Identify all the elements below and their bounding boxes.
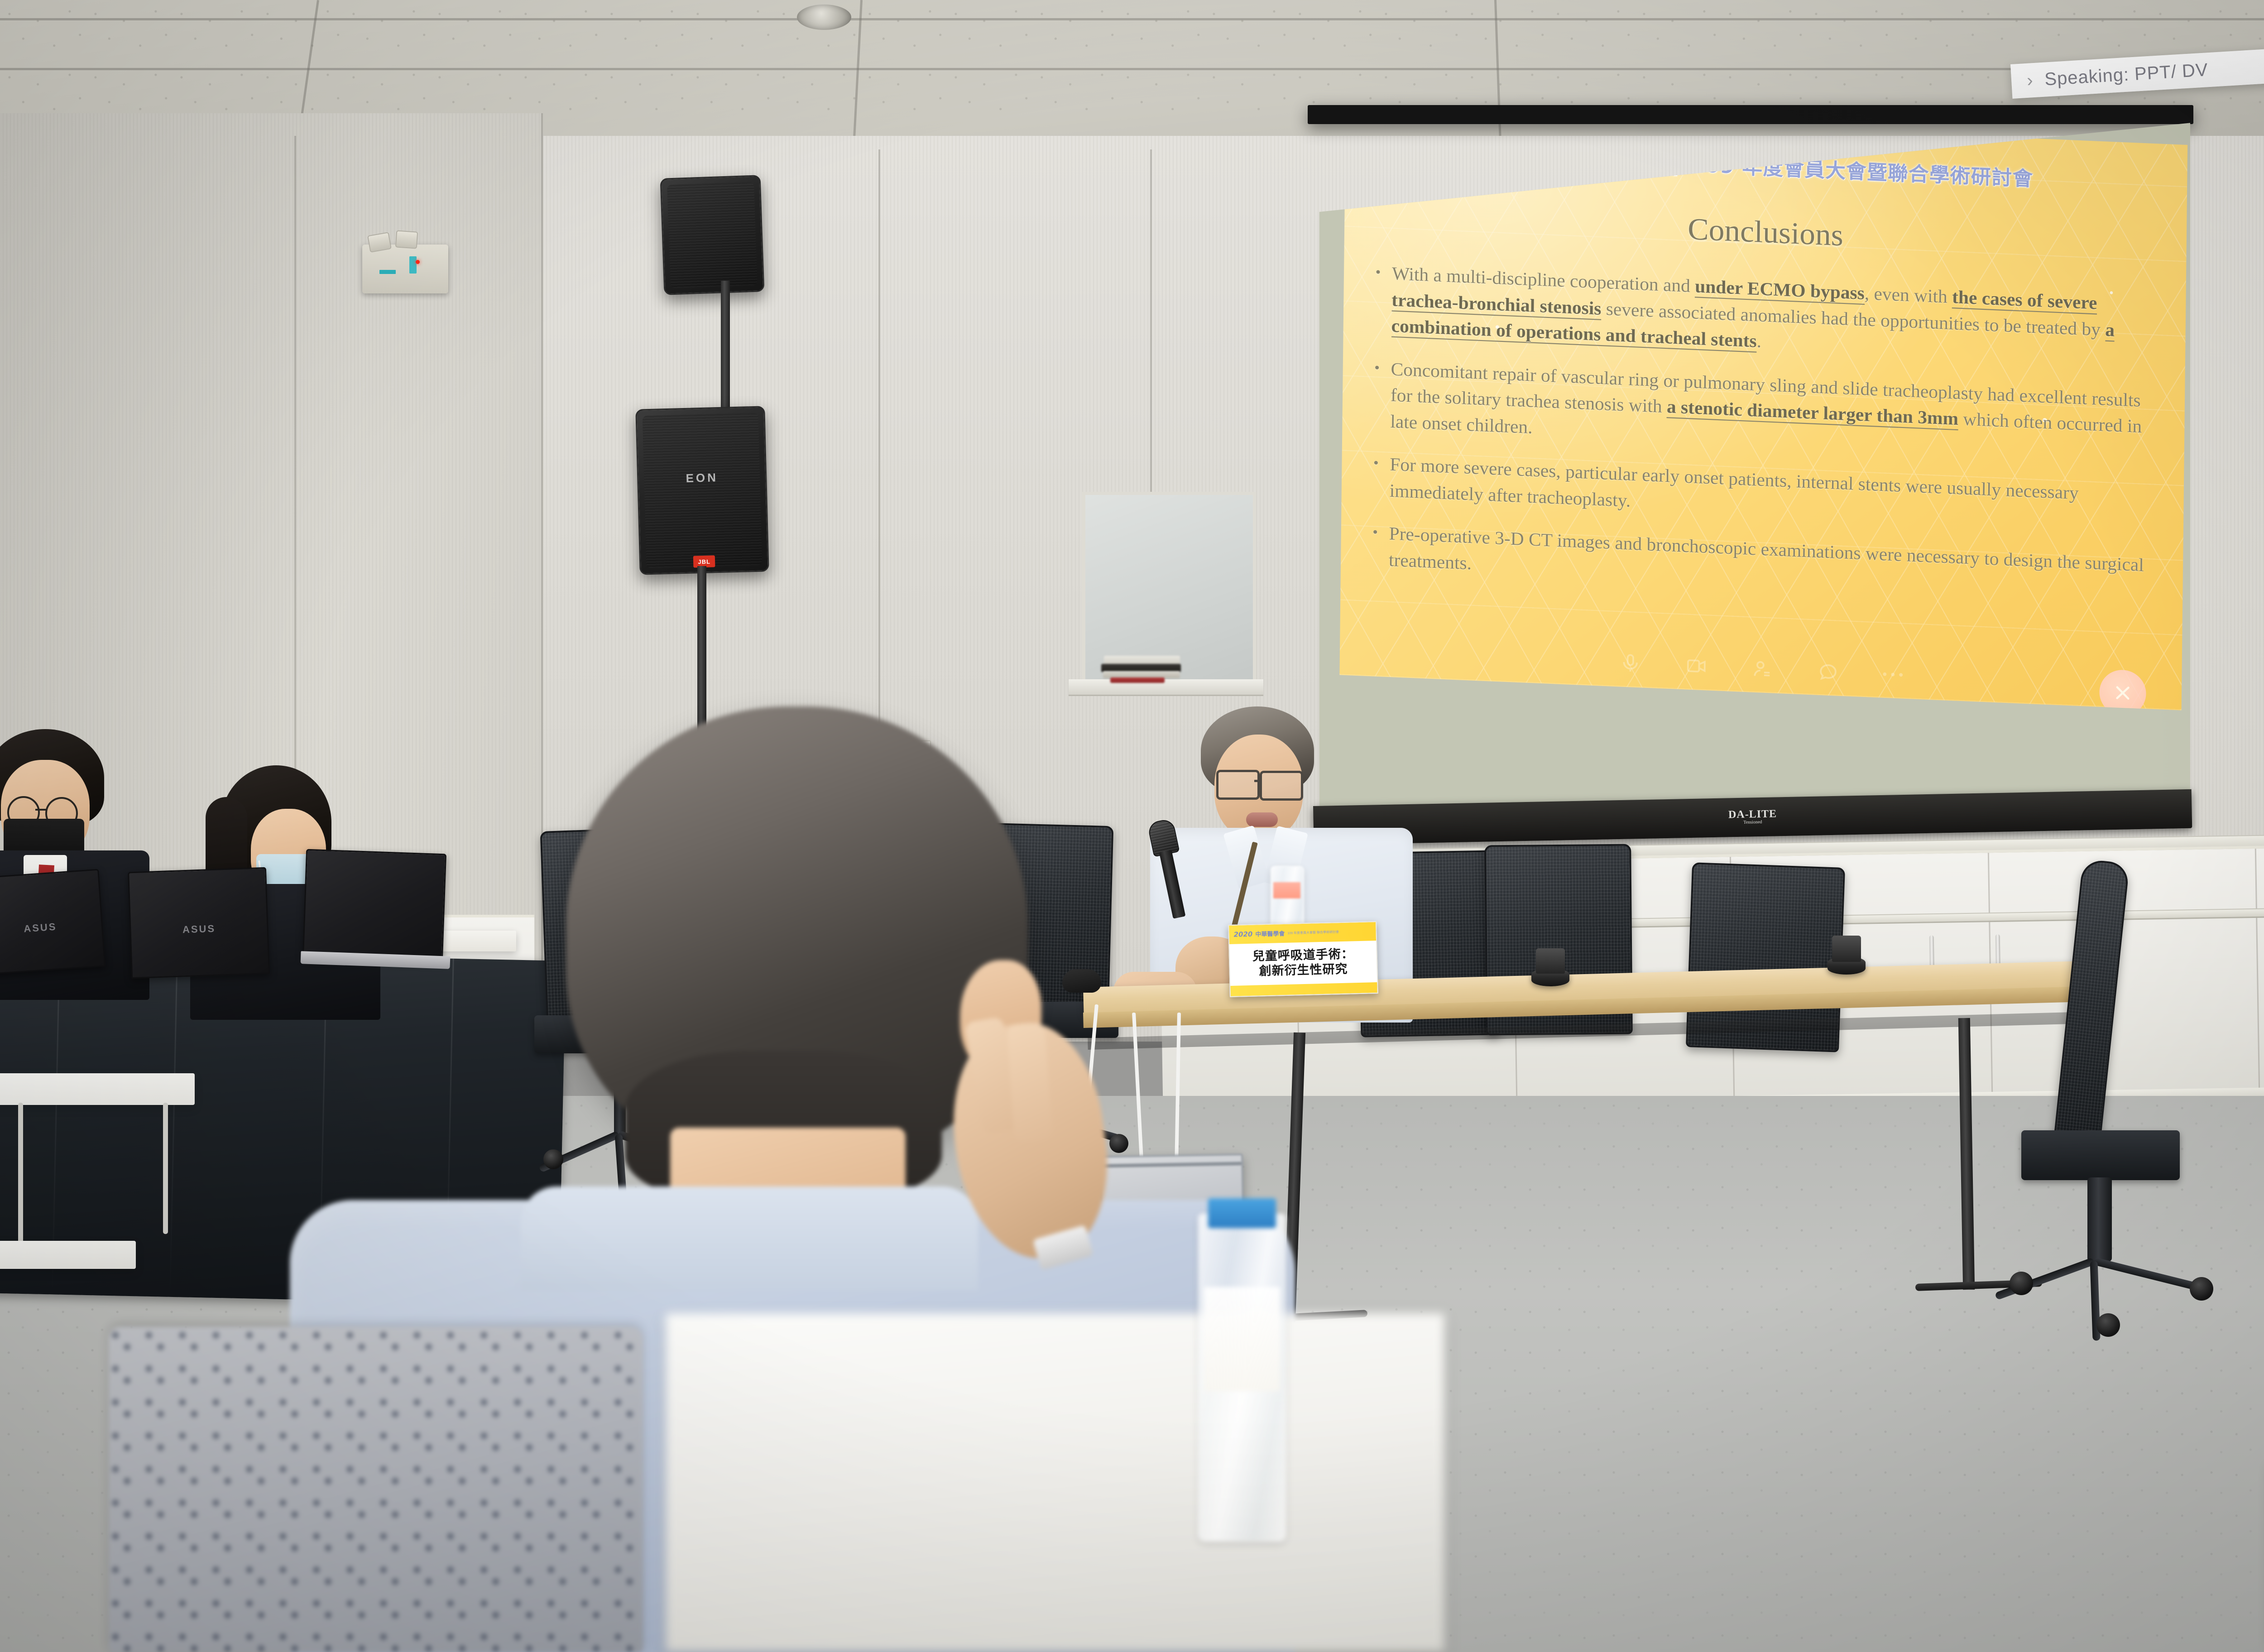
wall-seam xyxy=(294,136,296,770)
emergency-light-panel xyxy=(409,256,417,274)
bullet-marker: • xyxy=(1374,356,1380,435)
table-leg xyxy=(18,1103,23,1243)
chair-base-arm xyxy=(2093,1257,2205,1292)
chair-caster xyxy=(2190,1277,2213,1301)
chair-base-arm xyxy=(1995,1258,2095,1301)
table-leg xyxy=(163,1103,168,1234)
floor-speaker-eon: EON JBL xyxy=(635,406,769,575)
ceiling-grid-line xyxy=(0,18,2264,20)
slide-bullet: • Pre-operative 3-D CT images and bronch… xyxy=(1372,520,2154,605)
more-options-icon[interactable] xyxy=(1883,672,1903,677)
slide-bullet: • For more severe cases, particular earl… xyxy=(1373,451,2155,536)
chat-icon[interactable] xyxy=(1817,660,1839,683)
ceiling-vent xyxy=(797,5,851,30)
bullet-marker: • xyxy=(1372,520,1378,573)
white-side-table xyxy=(0,1241,136,1269)
finger xyxy=(1007,1022,1053,1142)
white-side-table xyxy=(0,1073,195,1105)
dalite-brand-logo: DA-LITE Tensioned xyxy=(1728,809,1777,826)
bullet-text: For more severe cases, particular early … xyxy=(1389,452,2155,537)
microphone-icon[interactable] xyxy=(1619,652,1641,674)
bullet-text: Concomitant repair of vascular ring or p… xyxy=(1390,356,2157,467)
bottle-label xyxy=(1204,1287,1280,1391)
audience-desk xyxy=(666,1313,1444,1652)
laptop-left[interactable]: ASUS xyxy=(0,869,106,975)
emergency-light-led xyxy=(416,260,420,264)
shirt-collar xyxy=(521,1186,978,1291)
book-stack xyxy=(1110,677,1165,683)
chair-caster xyxy=(2096,1313,2120,1337)
task-chair-profile[interactable] xyxy=(2001,860,2237,1340)
laptop-brand-asus: ASUS xyxy=(23,921,57,935)
bullet-marker: • xyxy=(1375,260,1381,339)
speaker-mount-pole xyxy=(721,281,730,417)
bottle-cap xyxy=(1208,1198,1276,1228)
chair-seat xyxy=(2021,1130,2180,1180)
emergency-lamp-left xyxy=(367,232,392,253)
emergency-light-legend xyxy=(379,270,396,274)
drape-fold xyxy=(169,953,178,1297)
slide-bullet: • Concomitant repair of vascular ring or… xyxy=(1374,356,2157,467)
cabinet-seam xyxy=(2255,849,2260,1102)
eyeglasses-bridge xyxy=(35,809,47,811)
desk-microphone-body[interactable] xyxy=(1832,936,1861,962)
wall-speaker-upper xyxy=(660,175,765,295)
chevron-right-icon[interactable]: › xyxy=(2026,71,2034,90)
ceiling-grid-line xyxy=(0,68,2264,70)
laptop-center[interactable]: ASUS xyxy=(128,867,270,979)
projection-screen: 2020 中華醫學會 109 年度會員大會暨聯合學術研討會 Conclusion… xyxy=(1314,119,2190,825)
slide-canvas: 2020 中華醫學會 109 年度會員大會暨聯合學術研討會 Conclusion… xyxy=(1339,119,2187,711)
participants-icon[interactable] xyxy=(1751,658,1773,680)
speaker-grille xyxy=(643,413,763,568)
desk-microphone-body[interactable] xyxy=(1536,948,1565,974)
book-stack xyxy=(1104,656,1180,665)
slide-body: • With a multi-discipline cooperation an… xyxy=(1372,260,2158,623)
projection-screen-housing xyxy=(1308,105,2193,124)
camera-icon[interactable] xyxy=(1685,654,1708,677)
laptop-brand-asus: ASUS xyxy=(182,923,216,936)
chair-backrest xyxy=(2052,859,2130,1155)
chair-gas-lift xyxy=(2087,1177,2112,1262)
chair-caster xyxy=(2010,1272,2033,1295)
speaker-grille xyxy=(667,182,758,288)
audience-chair-foreground[interactable] xyxy=(109,1327,643,1652)
window-sill xyxy=(1069,679,1263,696)
water-bottle-foreground[interactable] xyxy=(1198,1214,1286,1542)
emergency-light xyxy=(362,245,448,293)
conference-room-photo: 2020 中華醫學會 109 年度會員大會暨聯合學術研討會 Conclusion… xyxy=(0,0,2264,1652)
bullet-marker: • xyxy=(1373,451,1379,504)
speaking-status-label: Speaking: PPT/ DV xyxy=(2044,60,2209,90)
bullet-text: Pre-operative 3-D CT images and bronchos… xyxy=(1389,521,2155,606)
projected-slide: 2020 中華醫學會 109 年度會員大會暨聯合學術研討會 Conclusion… xyxy=(1339,119,2187,711)
emergency-lamp-right xyxy=(395,230,418,249)
